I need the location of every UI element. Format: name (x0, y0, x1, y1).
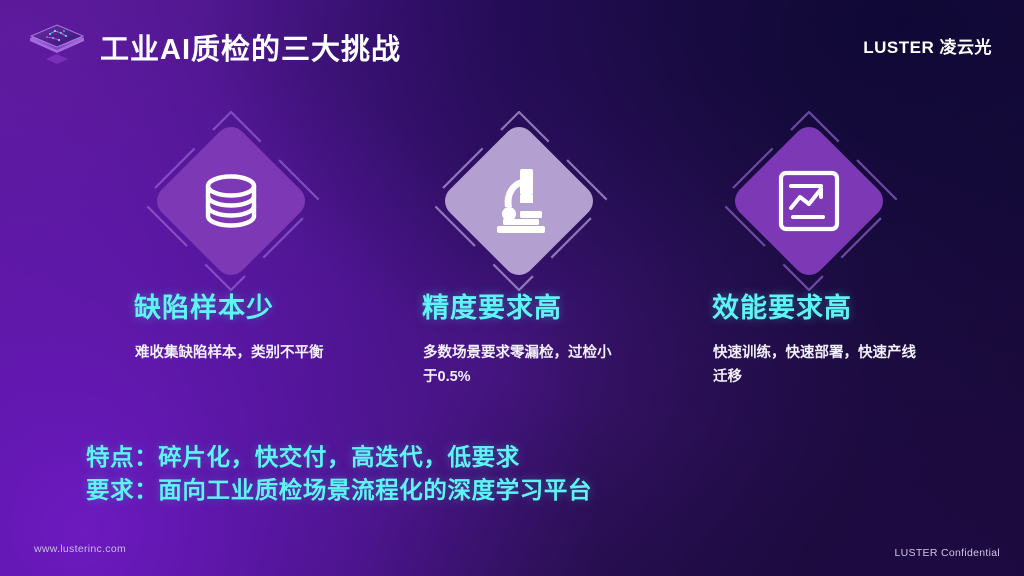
summary-line-requirements: 要求：面向工业质检场景流程化的深度学习平台 (86, 474, 592, 507)
slide-header: 工业AI质检的三大挑战 LUSTER 凌云光 (0, 0, 1024, 82)
card-title: 精度要求高 (422, 286, 562, 325)
microscope-icon (414, 96, 624, 306)
footer-confidential: LUSTER Confidential (895, 547, 1001, 559)
badge-diamond (126, 96, 336, 306)
challenge-card: 缺陷样本少 难收集缺陷样本，类别不平衡 (112, 96, 412, 416)
card-title: 缺陷样本少 (134, 286, 274, 325)
badge-diamond (704, 96, 914, 306)
badge-diamond (414, 96, 624, 306)
challenge-card: 精度要求高 多数场景要求零漏检，过检小于0.5% (400, 96, 700, 416)
card-body: 多数场景要求零漏检，过检小于0.5% (423, 342, 623, 390)
card-body: 难收集缺陷样本，类别不平衡 (135, 342, 335, 366)
challenge-card: 效能要求高 快速训练，快速部署，快速产线迁移 (690, 96, 990, 416)
card-title: 效能要求高 (712, 286, 852, 325)
card-body: 快速训练，快速部署，快速产线迁移 (713, 342, 923, 390)
brand-name: LUSTER 凌云光 (863, 33, 992, 58)
challenge-cards: 缺陷样本少 难收集缺陷样本，类别不平衡 (0, 96, 1024, 416)
chart-document-icon (704, 96, 914, 306)
chip-diamond-icon (26, 20, 88, 66)
summary-block: 特点：碎片化，快交付，高迭代，低要求 要求：面向工业质检场景流程化的深度学习平台 (86, 441, 592, 508)
footer-website[interactable]: www.lusterinc.com (34, 543, 126, 555)
summary-line-characteristics: 特点：碎片化，快交付，高迭代，低要求 (86, 441, 592, 474)
slide-canvas: 工业AI质检的三大挑战 LUSTER 凌云光 (0, 0, 1024, 576)
database-icon (126, 96, 336, 306)
page-title: 工业AI质检的三大挑战 (100, 26, 401, 68)
